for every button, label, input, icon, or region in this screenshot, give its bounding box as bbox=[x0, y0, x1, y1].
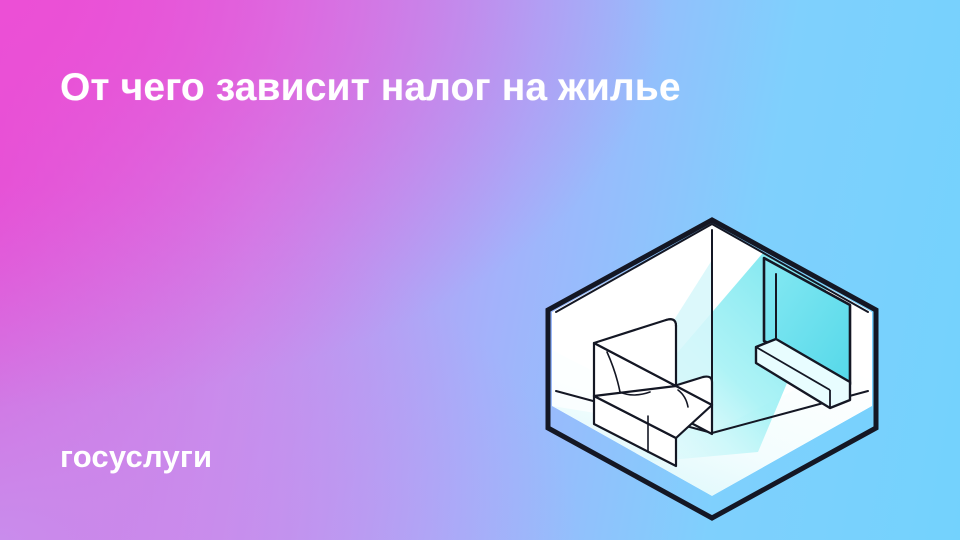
banner-root: От чего зависит налог на жилье госуслуги bbox=[0, 0, 960, 540]
isometric-room-illustration bbox=[498, 200, 898, 510]
gosuslugi-logo: госуслуги bbox=[60, 441, 212, 472]
page-title: От чего зависит налог на жилье bbox=[60, 66, 681, 111]
